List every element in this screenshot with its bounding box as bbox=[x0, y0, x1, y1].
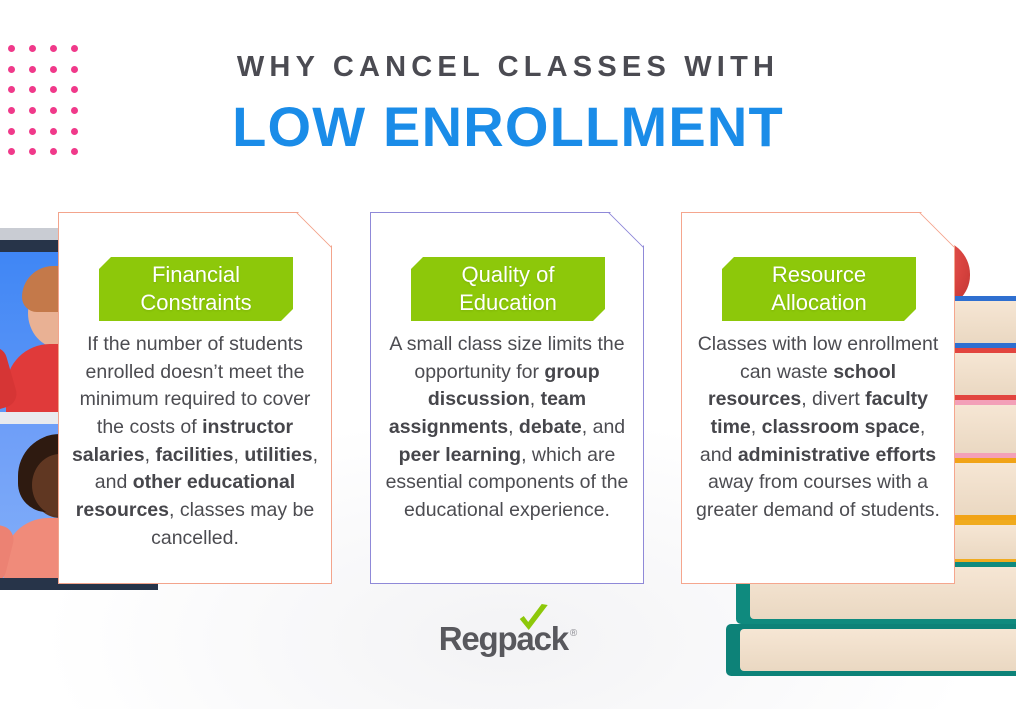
folded-corner-icon bbox=[919, 212, 955, 248]
card-title-quality-of-education: Quality ofEducation bbox=[459, 261, 557, 317]
card-resource-allocation[interactable]: ResourceAllocation Classes with low enro… bbox=[681, 212, 955, 584]
page-title-block: WHY CANCEL CLASSES WITH LOW ENROLLMENT bbox=[0, 52, 1016, 157]
regpack-logo[interactable]: Regpack ® bbox=[439, 622, 578, 655]
green-check-mark-icon bbox=[517, 603, 551, 637]
card-body-quality-of-education: A small class size limits the opportunit… bbox=[381, 331, 633, 525]
card-quality-of-education[interactable]: Quality ofEducation A small class size l… bbox=[370, 212, 644, 584]
card-title-resource-allocation: ResourceAllocation bbox=[771, 261, 866, 317]
card-banner-quality-of-education: Quality ofEducation bbox=[411, 257, 605, 321]
decor-dot bbox=[8, 45, 15, 52]
book-teal-bottom bbox=[726, 624, 1016, 676]
card-body-financial-constraints: If the number of students enrolled doesn… bbox=[69, 331, 321, 553]
page-kicker: WHY CANCEL CLASSES WITH bbox=[0, 52, 1016, 84]
card-banner-resource-allocation: ResourceAllocation bbox=[722, 257, 916, 321]
folded-corner-icon bbox=[296, 212, 332, 248]
card-title-financial-constraints: FinancialConstraints bbox=[140, 261, 251, 317]
decor-dot bbox=[50, 45, 57, 52]
infographic-canvas: WHY CANCEL CLASSES WITH LOW ENROLLMENT F… bbox=[0, 0, 1016, 709]
decor-dot bbox=[71, 45, 78, 52]
card-body-resource-allocation: Classes with low enrollment can waste sc… bbox=[692, 331, 944, 525]
card-financial-constraints[interactable]: FinancialConstraints If the number of st… bbox=[58, 212, 332, 584]
trademark-symbol: ® bbox=[570, 628, 577, 639]
folded-corner-icon bbox=[608, 212, 644, 248]
decor-dot bbox=[29, 45, 36, 52]
card-banner-financial-constraints: FinancialConstraints bbox=[99, 257, 293, 321]
page-title: LOW ENROLLMENT bbox=[0, 98, 1016, 157]
